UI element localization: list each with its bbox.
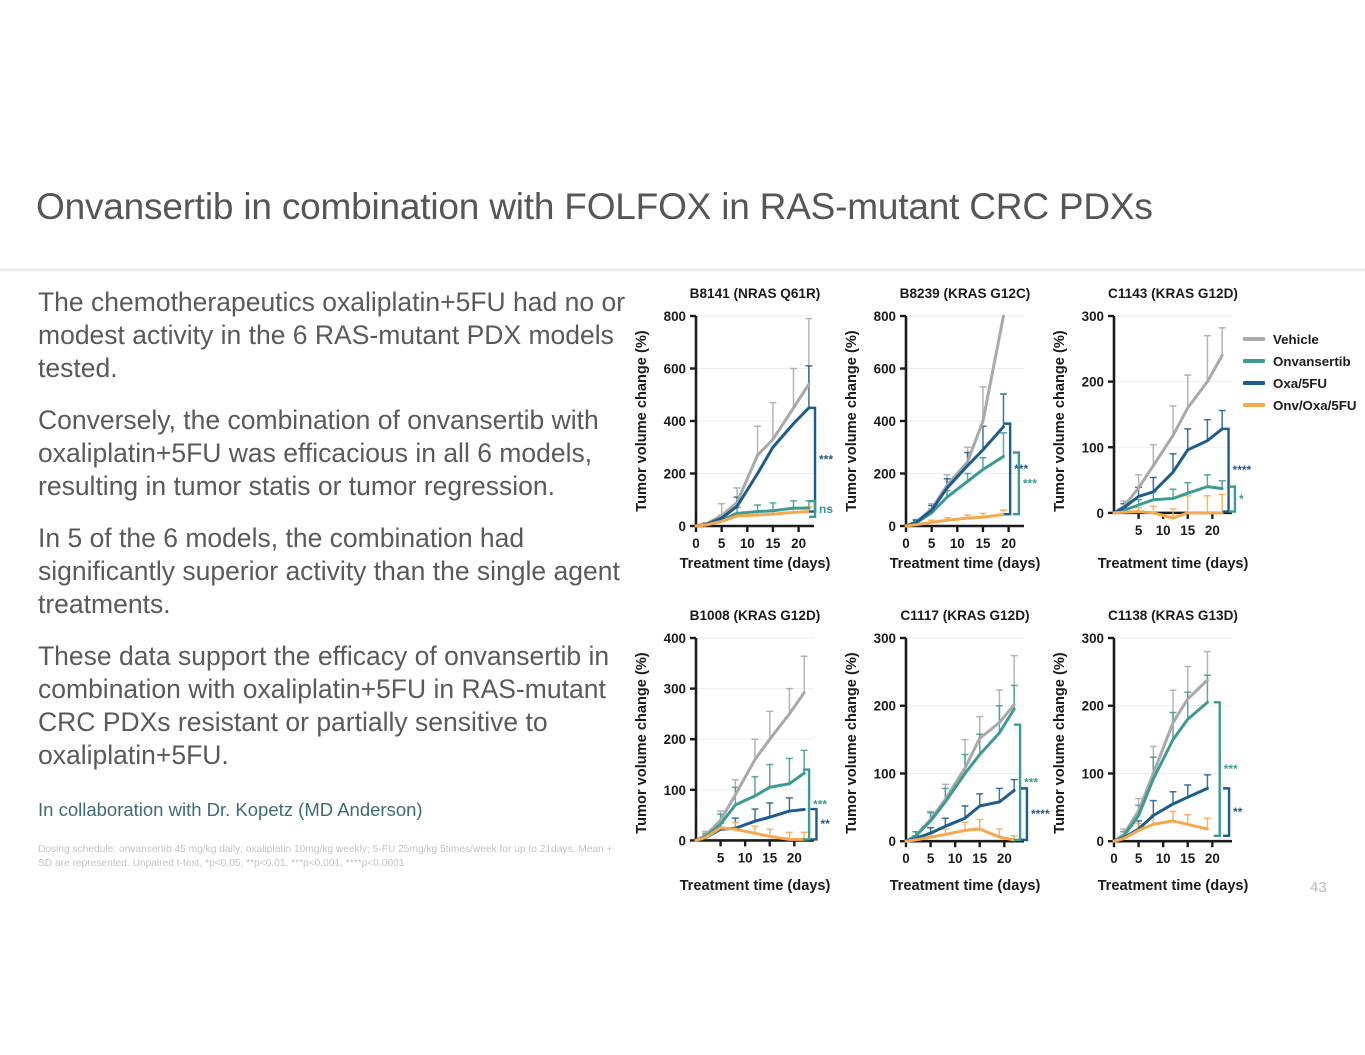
significance-label: ** [1233, 805, 1243, 819]
chart-title: B1008 (KRAS G12D) [690, 608, 821, 623]
body-paragraph: These data support the efficacy of onvan… [38, 640, 648, 772]
x-tick-label: 15 [766, 536, 781, 551]
y-tick-label: 200 [1082, 375, 1104, 390]
significance-bracket [1014, 725, 1020, 840]
y-tick-label: 300 [664, 682, 686, 697]
series-line [1114, 788, 1207, 841]
x-tick-label: 0 [902, 536, 909, 551]
legend-item-label: Vehicle [1273, 332, 1319, 347]
y-tick-label: 200 [874, 699, 896, 714]
y-tick-label: 0 [1097, 834, 1104, 849]
y-tick-label: 100 [1082, 440, 1104, 455]
x-axis-label: Treatment time (days) [1098, 878, 1249, 894]
series-line [696, 810, 804, 841]
significance-bracket [1223, 788, 1229, 835]
x-tick-label: 15 [976, 536, 991, 551]
x-tick-label: 10 [740, 536, 755, 551]
legend-color-swatch [1243, 337, 1265, 341]
y-tick-label: 100 [874, 766, 896, 781]
legend-color-swatch [1243, 381, 1265, 385]
y-tick-label: 200 [1082, 699, 1104, 714]
significance-label: * [1239, 492, 1244, 506]
y-tick-label: 100 [664, 783, 686, 798]
y-axis-label: Tumor volume change (%) [634, 330, 650, 511]
x-tick-label: 5 [1135, 851, 1143, 866]
series-line [696, 384, 809, 526]
x-axis-label: Treatment time (days) [680, 556, 831, 572]
x-tick-label: 20 [997, 851, 1012, 866]
y-tick-label: 400 [664, 414, 686, 429]
x-axis-label: Treatment time (days) [890, 878, 1041, 894]
legend-color-swatch [1243, 359, 1265, 363]
legend-item: Onvansertib [1243, 350, 1365, 372]
significance-bracket [803, 770, 809, 840]
x-tick-label: 5 [928, 536, 936, 551]
y-tick-label: 600 [664, 362, 686, 377]
x-tick-label: 10 [738, 850, 753, 865]
y-tick-label: 800 [664, 309, 686, 324]
x-tick-label: 0 [1110, 851, 1117, 866]
y-tick-label: 300 [874, 631, 896, 646]
x-tick-label: 5 [717, 850, 725, 865]
y-tick-label: 0 [889, 519, 896, 534]
chart-title: C1138 (KRAS G13D) [1108, 608, 1238, 623]
x-tick-label: 15 [1180, 851, 1195, 866]
collaboration-note: In collaboration with Dr. Kopetz (MD And… [38, 799, 638, 821]
x-tick-label: 10 [948, 851, 963, 866]
legend-color-swatch [1243, 403, 1265, 407]
x-tick-label: 15 [1180, 523, 1195, 538]
series-line [696, 773, 804, 840]
y-tick-label: 0 [889, 834, 896, 849]
x-tick-label: 10 [1156, 523, 1171, 538]
page-title: Onvansertib in combination with FOLFOX i… [36, 186, 1326, 228]
x-tick-label: 10 [950, 536, 965, 551]
legend-item: Vehicle [1243, 328, 1365, 350]
chart-c1143: C1143 (KRAS G12D)01002003005101520Treatm… [1048, 282, 1316, 582]
y-tick-label: 300 [1082, 309, 1104, 324]
body-paragraph: In 5 of the 6 models, the combination ha… [38, 522, 648, 621]
chart-title: B8239 (KRAS G12C) [900, 286, 1031, 301]
x-tick-label: 15 [972, 851, 987, 866]
x-tick-label: 0 [692, 536, 699, 551]
y-axis-label: Tumor volume change (%) [634, 652, 650, 833]
significance-bracket [1229, 487, 1235, 512]
significance-label: **** [1233, 463, 1252, 477]
y-tick-label: 0 [1097, 506, 1104, 521]
title-divider [0, 268, 1365, 271]
chart-title: B8141 (NRAS Q61R) [690, 286, 821, 301]
significance-label: *** [1224, 762, 1238, 776]
y-axis-label: Tumor volume change (%) [844, 652, 860, 833]
significance-label: *** [1023, 476, 1037, 490]
series-line [906, 790, 1014, 841]
series-line [696, 693, 804, 841]
y-tick-label: 800 [874, 309, 896, 324]
y-tick-label: 0 [679, 519, 686, 534]
body-text-column: The chemotherapeutics oxaliplatin+5FU ha… [38, 286, 648, 791]
y-tick-label: 400 [664, 631, 686, 646]
x-tick-label: 20 [787, 850, 802, 865]
x-tick-label: 20 [1001, 536, 1016, 551]
significance-label: ns [819, 502, 833, 516]
x-tick-label: 20 [791, 536, 806, 551]
significance-label: ** [820, 817, 830, 831]
chart-legend: VehicleOnvansertibOxa/5FUOnv/Oxa/5FU [1243, 328, 1365, 416]
legend-item-label: Onv/Oxa/5FU [1273, 398, 1357, 413]
x-tick-label: 20 [1205, 523, 1220, 538]
y-axis-label: Tumor volume change (%) [844, 330, 860, 511]
slide: Onvansertib in combination with FOLFOX i… [0, 0, 1365, 1055]
y-tick-label: 600 [874, 362, 896, 377]
y-tick-label: 400 [874, 414, 896, 429]
dosing-footnote: Dosing schedule: onvansertib 45 mg/kg da… [38, 843, 613, 870]
x-axis-label: Treatment time (days) [1098, 556, 1249, 572]
y-axis-label: Tumor volume change (%) [1052, 652, 1068, 833]
significance-bracket [1214, 702, 1220, 835]
series-line [1114, 680, 1207, 841]
x-axis-label: Treatment time (days) [890, 556, 1041, 572]
x-tick-label: 0 [902, 851, 909, 866]
y-tick-label: 100 [1082, 766, 1104, 781]
x-tick-label: 15 [762, 850, 777, 865]
x-tick-label: 5 [718, 536, 726, 551]
y-tick-label: 300 [1082, 631, 1104, 646]
body-paragraph: The chemotherapeutics oxaliplatin+5FU ha… [38, 286, 648, 385]
y-axis-label: Tumor volume change (%) [1052, 330, 1068, 511]
y-tick-label: 200 [664, 732, 686, 747]
y-tick-label: 200 [874, 467, 896, 482]
x-tick-label: 5 [1135, 523, 1143, 538]
x-tick-label: 10 [1156, 851, 1171, 866]
x-tick-label: 5 [927, 851, 935, 866]
x-tick-label: 20 [1205, 851, 1220, 866]
significance-label: *** [1014, 462, 1028, 476]
significance-bracket [810, 809, 816, 839]
significance-bracket [809, 408, 815, 512]
legend-item-label: Onvansertib [1273, 354, 1351, 369]
chart-title: C1143 (KRAS G12D) [1108, 286, 1238, 301]
legend-item: Onv/Oxa/5FU [1243, 394, 1365, 416]
significance-bracket [1223, 429, 1229, 512]
significance-bracket [1004, 424, 1010, 515]
series-line [1114, 702, 1207, 841]
body-paragraph: Conversely, the combination of onvansert… [38, 404, 648, 503]
y-tick-label: 0 [679, 833, 686, 848]
significance-bracket [1021, 788, 1027, 839]
chart-title: C1117 (KRAS G12D) [900, 608, 1029, 623]
significance-label: *** [819, 453, 833, 467]
y-tick-label: 200 [664, 467, 686, 482]
series-line [1114, 355, 1222, 513]
chart-c1138: C1138 (KRAS G13D)010020030005101520Treat… [1048, 604, 1316, 904]
legend-item: Oxa/5FU [1243, 372, 1365, 394]
legend-item-label: Oxa/5FU [1273, 376, 1327, 391]
x-axis-label: Treatment time (days) [680, 878, 831, 894]
